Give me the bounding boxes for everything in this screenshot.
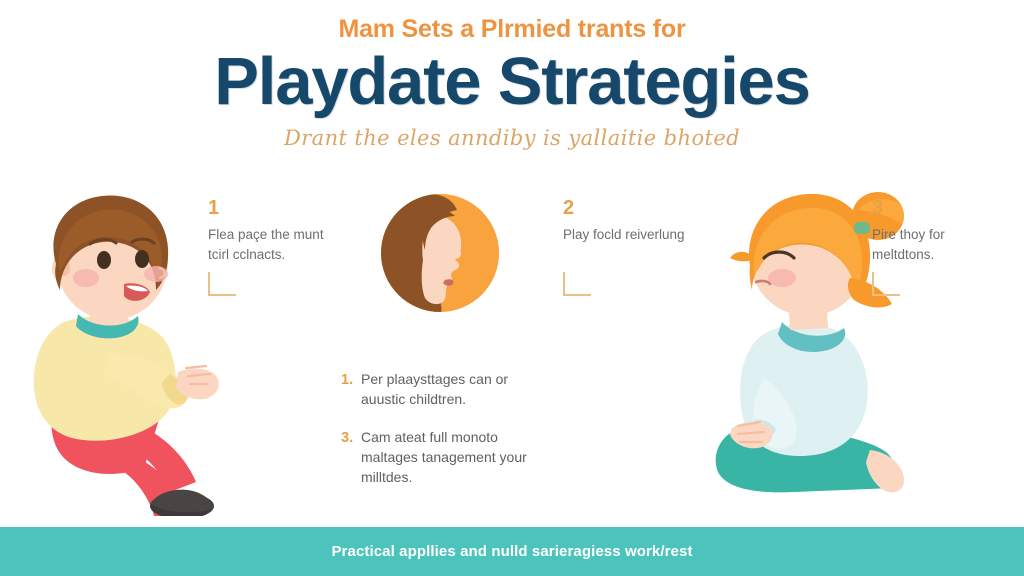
page-title: Playdate Strategies (0, 48, 1024, 116)
column-1-note: 1 Flea paçe the munt tcirl cclnacts. (208, 198, 340, 266)
header-subtitle: Drant the eles anndiby is yallaitie bhot… (0, 126, 1024, 150)
profile-avatar-illustration (381, 194, 499, 312)
bullet-text: Cam ateat full monoto maltages tanagemen… (361, 428, 556, 488)
column-3: 3 Pire thoy for meltdtons. (682, 176, 1023, 526)
poster-header: Mam Sets a Plrmied trants for Playdate S… (0, 0, 1024, 150)
column-3-note: 3 Pire thoy for meltdtons. (872, 198, 1004, 266)
list-item: 3. Cam ateat full monoto maltages tanage… (341, 428, 556, 488)
column-3-number: 3 (872, 198, 1004, 218)
column-2-note: 2 Play focld reiverlung (563, 198, 695, 245)
infographic-poster: Mam Sets a Plrmied trants for Playdate S… (0, 0, 1024, 576)
column-1-corner-bracket (208, 272, 236, 296)
column-2-text: Play focld reiverlung (563, 225, 695, 245)
footer-bar: Practical appllies and nulld sarieragies… (0, 527, 1024, 576)
avatar-profile-graphic (381, 194, 499, 312)
column-1-text: Flea paçe the munt tcirl cclnacts. (208, 225, 340, 266)
column-2: 2 Play focld reiverlung 1. Per plaaystta… (341, 176, 682, 526)
column-3-corner-bracket (872, 272, 900, 296)
column-1: 1 Flea paçe the munt tcirl cclnacts. (0, 176, 341, 526)
footer-text: Practical appllies and nulld sarieragies… (331, 543, 692, 560)
column-3-text: Pire thoy for meltdtons. (872, 225, 1004, 266)
columns-section: 1 Flea paçe the munt tcirl cclnacts. (0, 176, 1024, 526)
list-item: 1. Per plaaysttages can or auustic child… (341, 370, 556, 410)
column-2-number: 2 (563, 198, 695, 218)
crouching-child-illustration (20, 186, 240, 516)
bullet-number: 3. (341, 428, 361, 488)
bullet-number: 1. (341, 370, 361, 410)
column-1-number: 1 (208, 198, 340, 218)
header-eyebrow: Mam Sets a Plrmied trants for (0, 16, 1024, 44)
bullet-list: 1. Per plaaysttages can or auustic child… (341, 370, 556, 505)
bullet-text: Per plaaysttages can or auustic childtre… (361, 370, 556, 410)
column-2-corner-bracket (563, 272, 591, 296)
